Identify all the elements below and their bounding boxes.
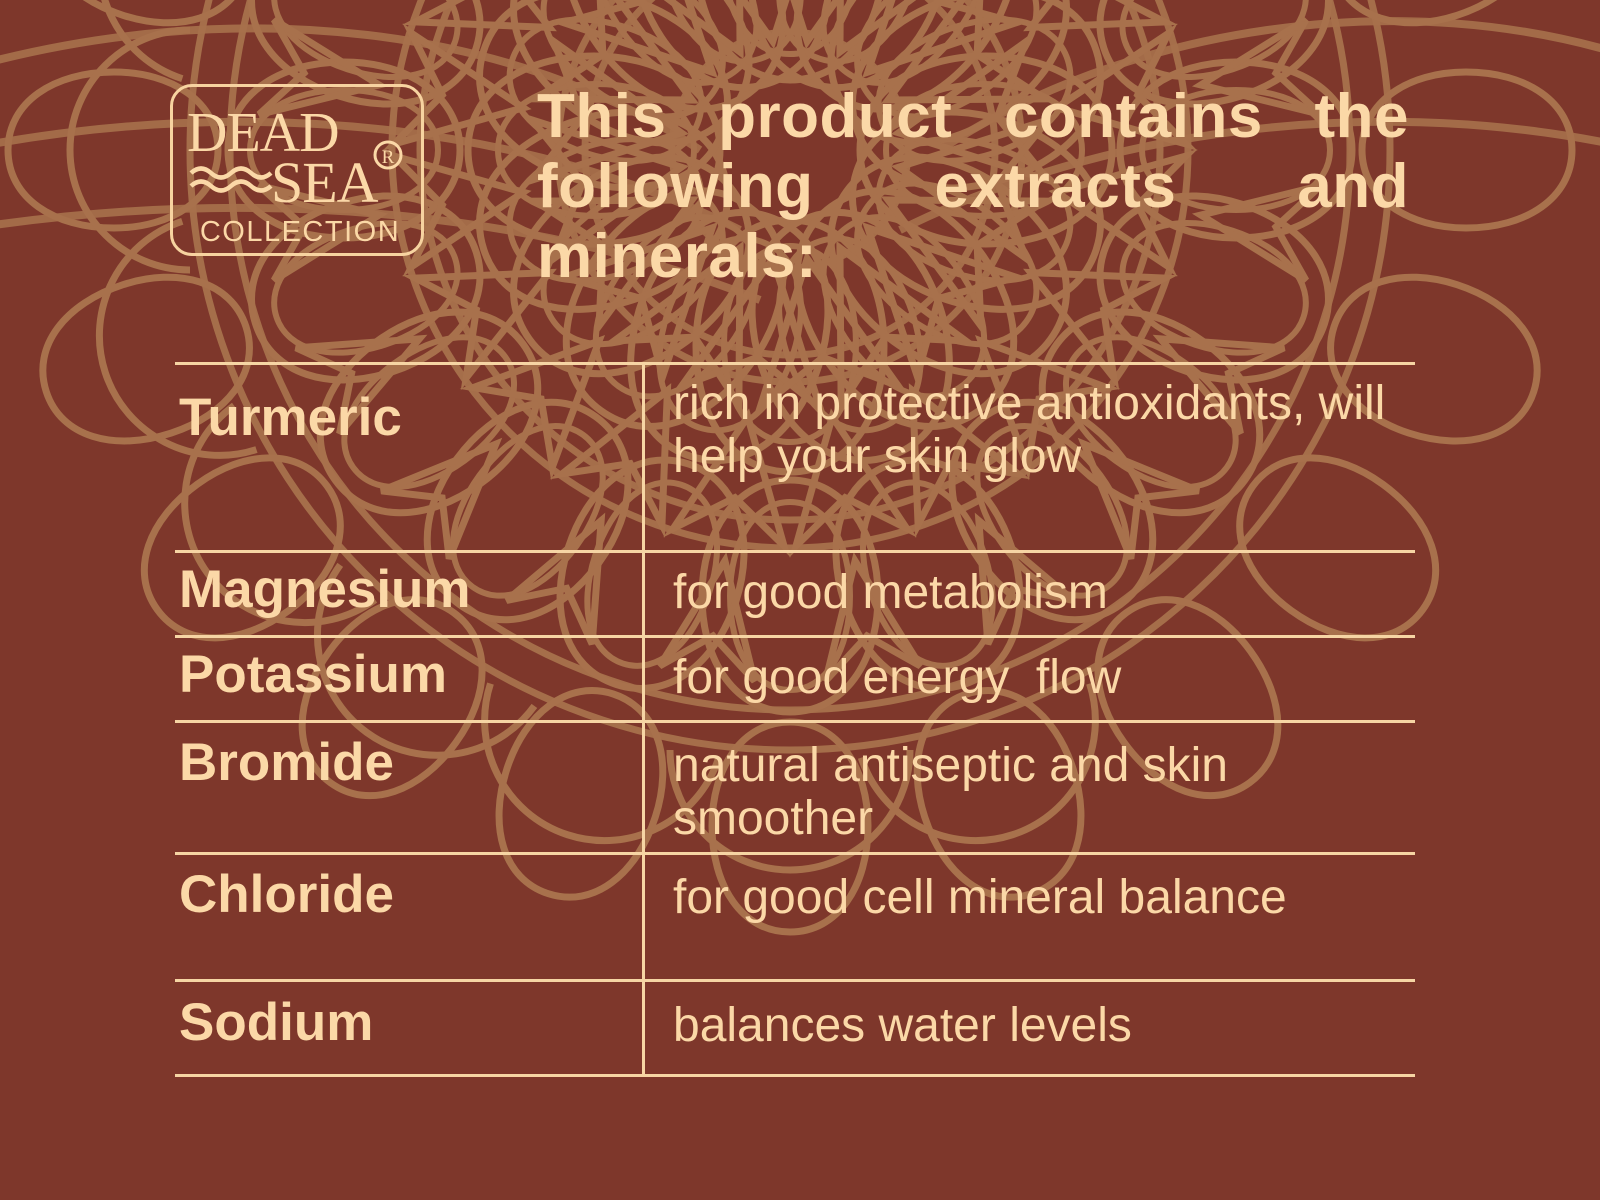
ingredient-name: Potassium xyxy=(175,638,642,704)
table-row: Potassium for good energy flow xyxy=(175,638,1415,720)
ingredient-description: rich in protective antioxidants, will he… xyxy=(645,365,1415,483)
table-row: Magnesium for good metabolism xyxy=(175,553,1415,635)
table-row: Sodium balances water levels xyxy=(175,982,1415,1074)
ingredient-description: natural antiseptic and skin smoother xyxy=(645,723,1415,845)
ingredient-name: Bromide xyxy=(175,723,642,792)
ingredients-table: Turmeric rich in protective antioxidants… xyxy=(175,362,1415,1077)
wave-icon xyxy=(191,169,271,191)
ingredient-description: balances water levels xyxy=(645,982,1415,1052)
svg-text:R: R xyxy=(382,147,395,168)
ingredient-name: Chloride xyxy=(175,855,642,924)
page-title: This product contains the following extr… xyxy=(537,82,1409,292)
product-info-card: DEAD SEA R COLLECTION This product conta… xyxy=(0,0,1600,1200)
table-row: Chloride for good cell mineral balance xyxy=(175,855,1415,979)
ingredient-description: for good metabolism xyxy=(645,553,1415,619)
table-row: Turmeric rich in protective antioxidants… xyxy=(175,365,1415,550)
page-title-line-2: following extracts and xyxy=(537,152,1409,222)
dead-sea-collection-logo: DEAD SEA R COLLECTION xyxy=(170,84,424,256)
ingredient-description: for good cell mineral balance xyxy=(645,855,1415,924)
page-title-line-1: This product contains the xyxy=(537,82,1409,152)
ingredient-description: for good energy flow xyxy=(645,638,1415,704)
logo-text-collection: COLLECTION xyxy=(200,216,400,248)
logo-text-sea: SEA xyxy=(271,150,379,215)
ingredient-name: Sodium xyxy=(175,982,642,1052)
ingredient-name: Magnesium xyxy=(175,553,642,619)
table-row: Bromide natural antiseptic and skin smoo… xyxy=(175,723,1415,852)
ingredient-name: Turmeric xyxy=(175,365,642,447)
table-rule-bottom xyxy=(175,1074,1415,1077)
registered-trademark-icon: R xyxy=(375,142,401,168)
page-title-line-3: minerals: xyxy=(537,222,1409,292)
